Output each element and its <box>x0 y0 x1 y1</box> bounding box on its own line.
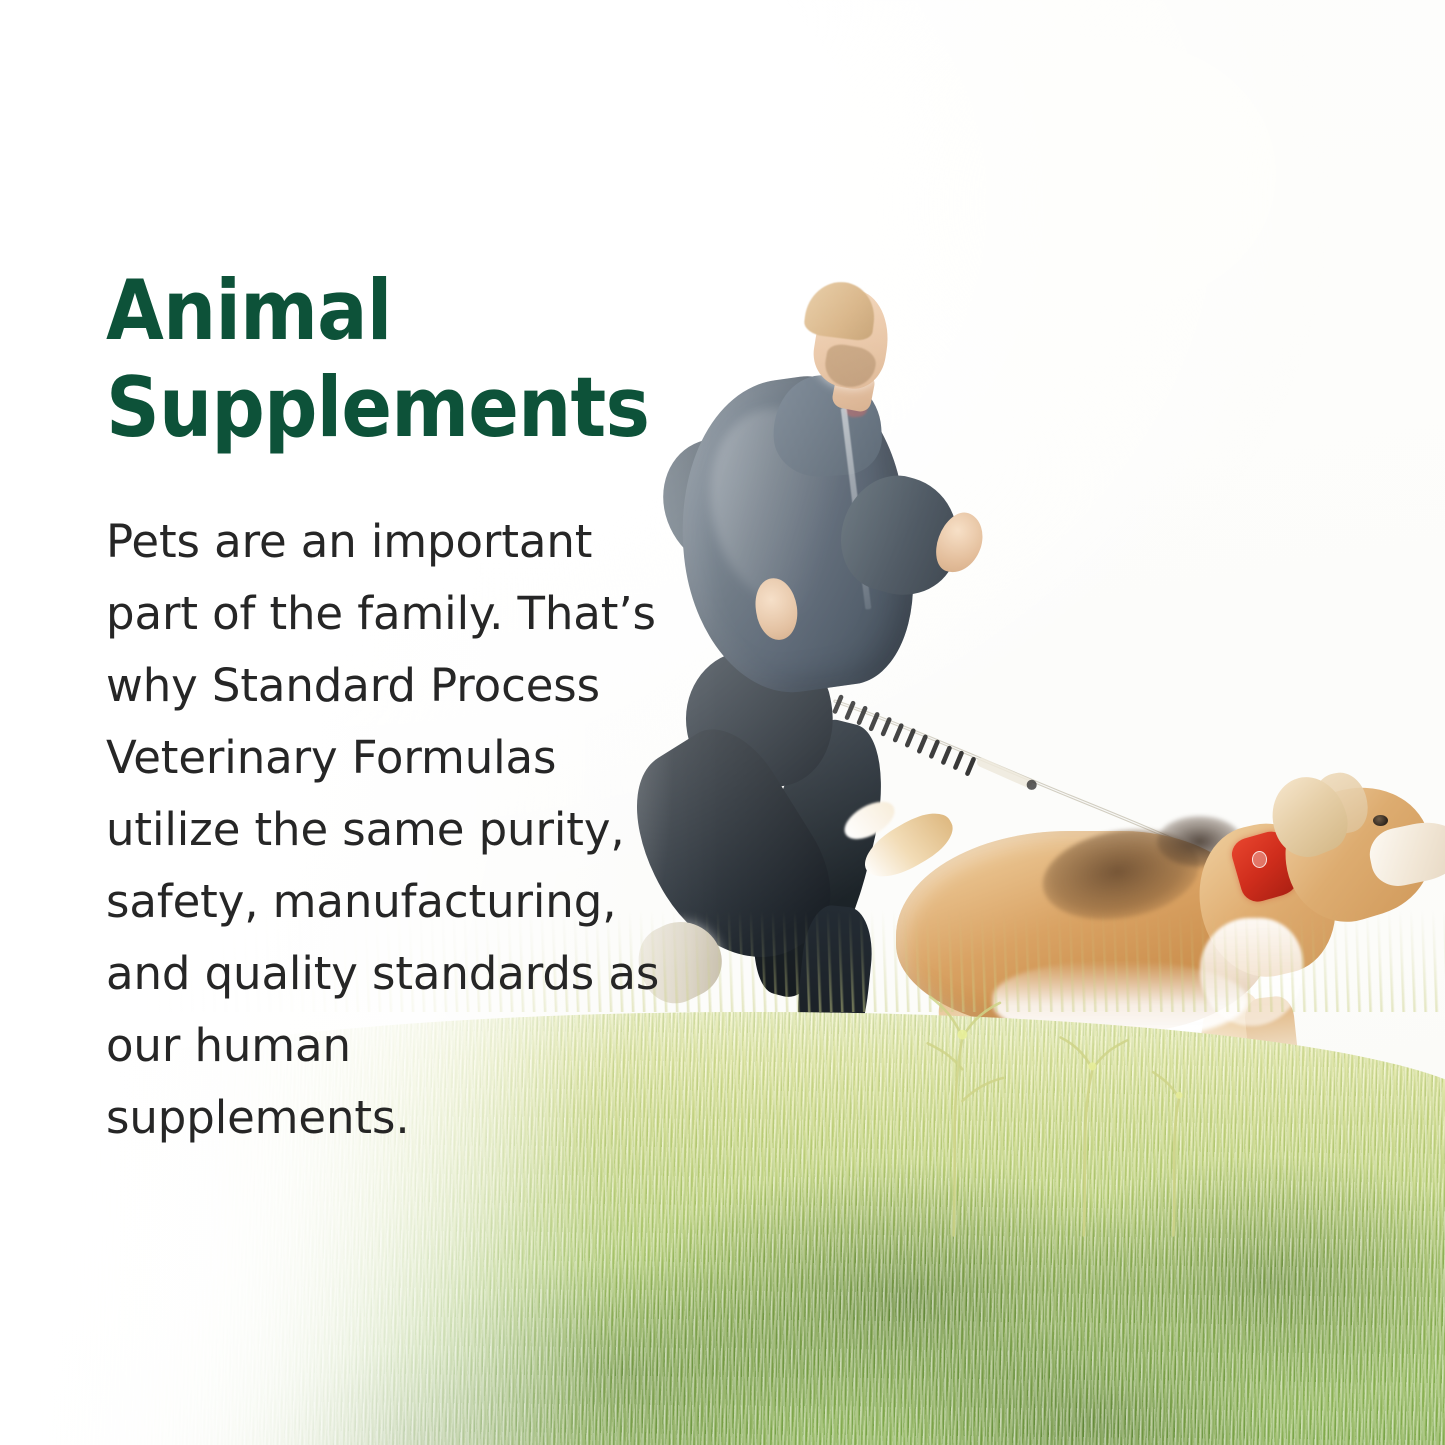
hero-image: Animal Supplements Pets are an important… <box>0 0 1445 1445</box>
body-paragraph: Pets are an important part of the family… <box>106 506 661 1154</box>
runner-hair <box>802 278 878 342</box>
page-title: Animal Supplements <box>106 262 726 456</box>
dog-collar-ring <box>1252 851 1267 868</box>
copy-block: Animal Supplements Pets are an important… <box>106 262 726 1154</box>
